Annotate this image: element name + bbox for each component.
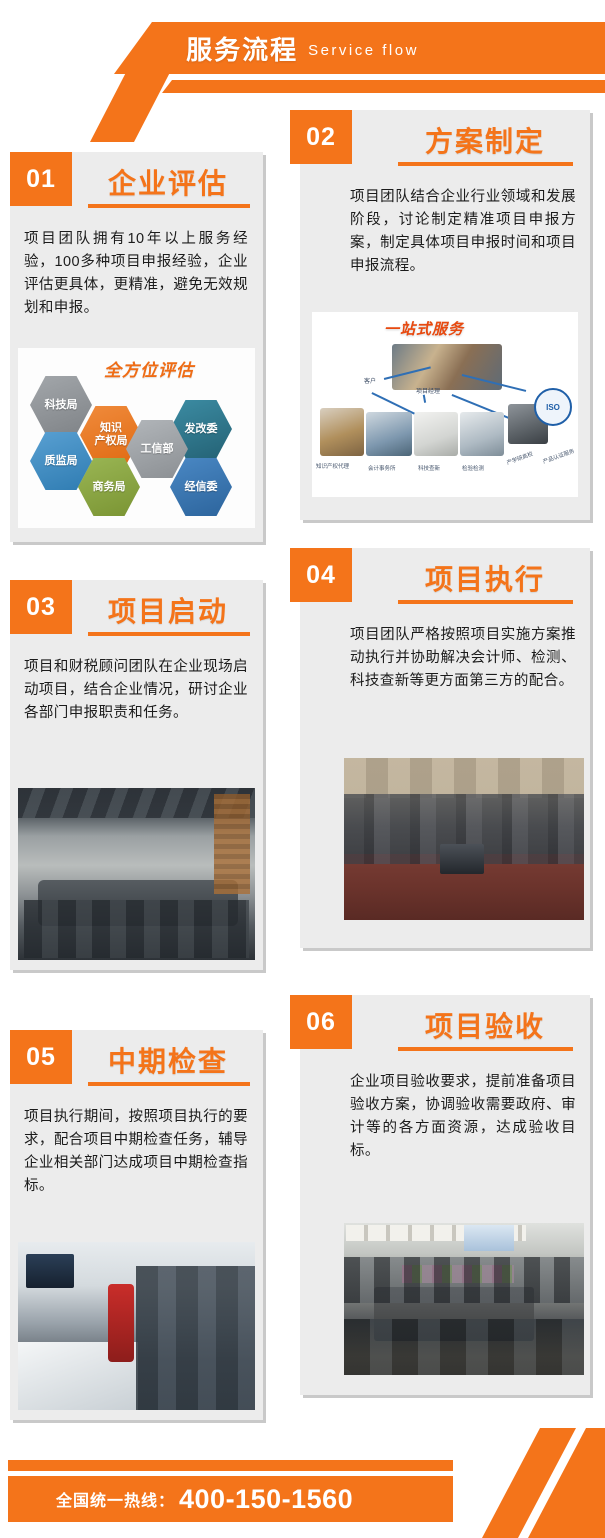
hex-label: 质监局 (45, 455, 78, 468)
oss-photo-ip (320, 408, 364, 456)
hex-label: 科技局 (45, 399, 78, 412)
photo-projector-screen (464, 1225, 514, 1251)
oss-foot-label: 产学研高校 (505, 450, 534, 467)
hex-label: 知识产权局 (95, 422, 128, 447)
oss-foot-label: 知识产权代理 (316, 462, 349, 470)
step-number-badge: 03 (10, 580, 72, 634)
oss-label-pm: 项目经理 (416, 386, 440, 395)
step-title: 项目启动 (80, 590, 256, 630)
photo-wall-right (214, 794, 250, 894)
title-underline (88, 632, 250, 636)
step-title: 中期检查 (80, 1040, 256, 1080)
photo-chairs-foreground (344, 1319, 584, 1375)
step-number-badge: 04 (290, 548, 352, 602)
hex-label: 经信委 (185, 481, 218, 494)
step-title: 项目执行 (390, 558, 580, 598)
step-body-text: 项目团队结合企业行业领域和发展阶段，讨论制定精准项目申报方案，制定具体项目申报时… (350, 186, 576, 278)
oss-arrow-down-mid (423, 395, 426, 403)
step-card-06[interactable]: 06 项目验收 企业项目验收要求，提前准备项目验收方案，协调验收需要政府、审计等… (300, 995, 590, 1395)
hotline-group: 全国统一热线： 400-150-1560 (8, 1476, 453, 1522)
header-title-group: 服务流程 Service flow (0, 22, 605, 74)
title-underline (88, 1082, 250, 1086)
step-title: 企业评估 (80, 162, 256, 202)
footer-thin-band (8, 1460, 453, 1471)
oss-photo-search (414, 412, 458, 456)
step-title: 方案制定 (390, 120, 580, 160)
hex-node-keji: 科技局 (30, 376, 92, 434)
figure-photo-working-meeting (344, 758, 584, 920)
hex-label: 商务局 (93, 481, 126, 494)
oss-center-photo (392, 344, 502, 390)
hotline-label: 全国统一热线： (56, 1487, 175, 1511)
figure-photo-large-meeting (344, 1223, 584, 1375)
figure-photo-conference-room (18, 788, 255, 960)
hex-label: 发改委 (185, 423, 218, 436)
step-body-text: 企业项目验收要求，提前准备项目验收方案，协调验收需要政府、审计等的各方面资源，达… (350, 1071, 576, 1163)
oss-label-customer: 客户 (364, 376, 376, 385)
photo-person-red-coat (108, 1284, 134, 1362)
photo-monitor-screens (26, 1254, 74, 1288)
title-underline (398, 162, 573, 166)
step-card-04[interactable]: 04 项目执行 项目团队严格按照项目实施方案推动执行并协助解决会计师、检测、科技… (300, 548, 590, 948)
hex-node-jingxinwei: 经信委 (170, 458, 232, 516)
step-card-01[interactable]: 01 企业评估 项目团队拥有10年以上服务经验，100多种项目申报经验，企业评估… (10, 152, 263, 542)
oss-foot-label: 科技查新 (418, 464, 440, 472)
figure-photo-facility-tour (18, 1242, 255, 1410)
hexfig-title: 全方位评估 (104, 356, 194, 381)
photo-chairs-detail (24, 900, 249, 958)
page-title: 服务流程 (186, 30, 298, 67)
oss-foot-label: 产品认证服务 (542, 447, 576, 466)
title-underline (88, 204, 250, 208)
oss-foot-label: 检验检测 (462, 464, 484, 472)
page-footer: 全国统一热线： 400-150-1560 (0, 1418, 605, 1538)
figure-one-stop-service: 一站式服务 客户 项目经理 ISO 知识产权代理 会计事务所 科技查新 检验检测… (312, 312, 578, 497)
step-body-text: 项目和财税顾问团队在企业现场启动项目，结合企业情况，研讨企业各部门申报职责和任务… (24, 656, 248, 725)
step-card-02[interactable]: 02 方案制定 项目团队结合企业行业领域和发展阶段，讨论制定精准项目申报方案，制… (300, 110, 590, 520)
step-body-text: 项目团队严格按照项目实施方案推动执行并协助解决会计师、检测、科技查新等更方面第三… (350, 624, 576, 693)
ossfig-title: 一站式服务 (384, 318, 464, 339)
hotline-phone-number[interactable]: 400-150-1560 (179, 1484, 353, 1515)
step-title: 项目验收 (390, 1005, 580, 1045)
oss-photo-testing (460, 412, 504, 456)
page-header: 服务流程 Service flow (0, 0, 605, 110)
oss-foot-label: 会计事务所 (368, 464, 396, 472)
step-number-badge: 02 (290, 110, 352, 164)
hex-label: 工信部 (141, 443, 174, 456)
header-thin-band (0, 80, 605, 93)
step-body-text: 项目团队拥有10年以上服务经验，100多种项目申报经验，企业评估更具体，更精准，… (24, 228, 248, 320)
page-subtitle: Service flow (308, 42, 419, 59)
oss-certification-seal: ISO (534, 388, 572, 426)
step-number-badge: 06 (290, 995, 352, 1049)
oss-photo-accounting (366, 412, 412, 456)
step-body-text: 项目执行期间，按照项目执行的要求，配合项目中期检查任务，辅导企业相关部门达成项目… (24, 1106, 248, 1198)
step-card-05[interactable]: 05 中期检查 项目执行期间，按照项目执行的要求，配合项目中期检查任务，辅导企业… (10, 1030, 263, 1420)
figure-hexagon-assessment: 全方位评估 科技局 知识产权局 发改委 质监局 工信部 商务局 经信委 (18, 348, 255, 528)
step-card-03[interactable]: 03 项目启动 项目和财税顾问团队在企业现场启动项目，结合企业情况，研讨企业各部… (10, 580, 263, 970)
step-number-badge: 05 (10, 1030, 72, 1084)
photo-visitor-group (136, 1266, 255, 1410)
photo-wall-panels (344, 758, 584, 798)
title-underline (398, 600, 573, 604)
photo-attendees (344, 1257, 584, 1303)
photo-laptop (440, 844, 484, 874)
title-underline (398, 1047, 573, 1051)
step-number-badge: 01 (10, 152, 72, 206)
